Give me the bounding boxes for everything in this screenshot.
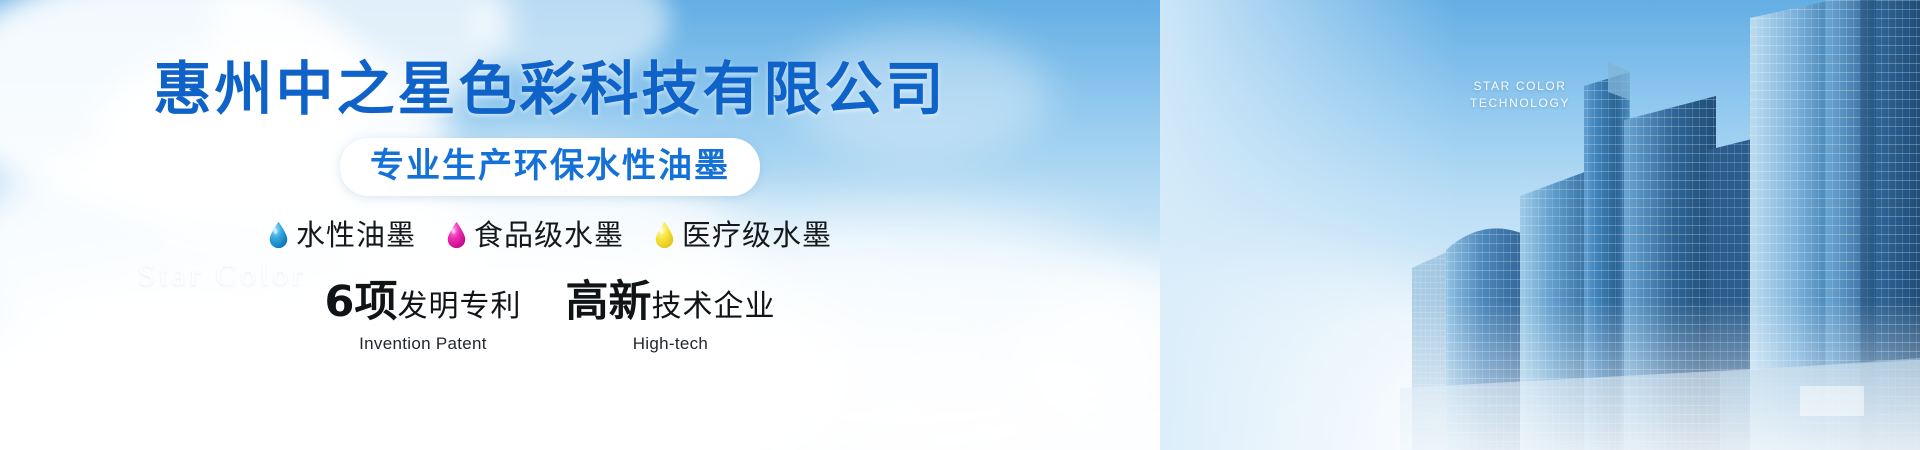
credential-english: Invention Patent	[359, 333, 487, 355]
promo-banner: Star Color STAR COLOR TECHNOLOGY 惠州中之星色彩…	[0, 0, 1920, 450]
credential-main: 6项 发明专利	[325, 278, 522, 331]
credential-highlight: 6项	[325, 278, 398, 326]
tagline-text: 专业生产环保水性油墨	[370, 146, 730, 186]
water-drop-icon	[446, 221, 467, 249]
banner-content: 惠州中之星色彩科技有限公司 专业生产环保水性油墨 水性油	[0, 0, 1100, 450]
feature-list: 水性油墨 食品级水墨	[268, 218, 832, 252]
credential-main: 高新 技术企业	[565, 278, 775, 331]
feature-label: 医疗级水墨	[682, 218, 832, 252]
credential-list: 6项 发明专利 Invention Patent 高新 技术企业 High-te…	[325, 278, 776, 355]
brandmark-line-1: STAR COLOR	[1470, 78, 1570, 95]
brandmark: STAR COLOR TECHNOLOGY	[1470, 78, 1570, 112]
feature-label: 食品级水墨	[474, 218, 624, 252]
tagline-badge: 专业生产环保水性油墨	[340, 138, 760, 196]
credential-item: 高新 技术企业 High-tech	[565, 278, 775, 355]
credential-label: 技术企业	[651, 283, 775, 331]
feature-item: 医疗级水墨	[654, 218, 832, 252]
credential-item: 6项 发明专利 Invention Patent	[325, 278, 522, 355]
feature-label: 水性油墨	[296, 218, 416, 252]
company-headline: 惠州中之星色彩科技有限公司	[153, 56, 946, 122]
feature-item: 食品级水墨	[446, 218, 624, 252]
water-drop-icon	[654, 221, 675, 249]
water-drop-icon	[268, 221, 289, 249]
city-skyline-photo	[1160, 0, 1920, 450]
credential-highlight: 高新	[565, 278, 651, 326]
brandmark-line-2: TECHNOLOGY	[1470, 95, 1570, 112]
feature-item: 水性油墨	[268, 218, 416, 252]
credential-english: High-tech	[633, 333, 708, 355]
credential-label: 发明专利	[397, 283, 521, 331]
